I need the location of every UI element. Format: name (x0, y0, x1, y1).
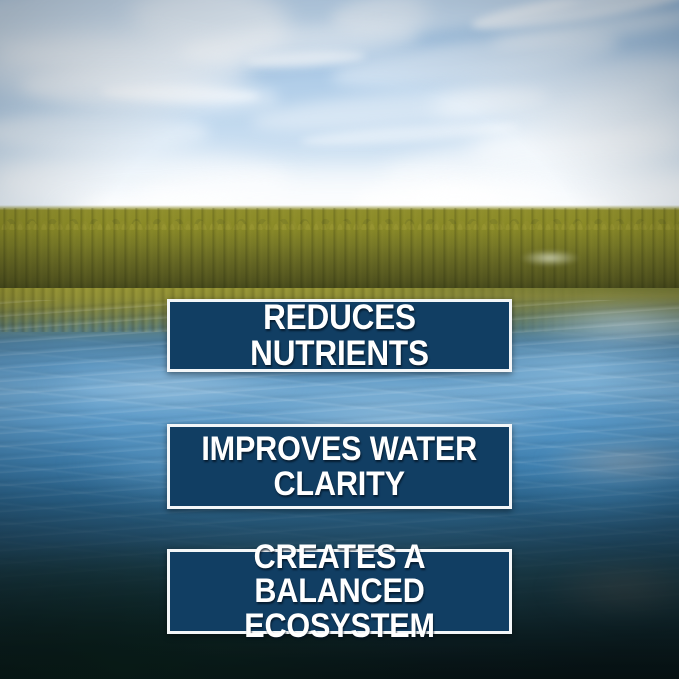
callout-improves-water-clarity: IMPROVES WATER CLARITY (167, 424, 512, 509)
callout-label: REDUCES NUTRIENTS (187, 300, 492, 371)
lake-benefits-graphic: REDUCES NUTRIENTS IMPROVES WATER CLARITY… (0, 0, 679, 679)
callout-creates-balanced-ecosystem: CREATES A BALANCED ECOSYSTEM (167, 549, 512, 634)
callout-label: CREATES A BALANCED ECOSYSTEM (187, 540, 492, 644)
callout-reduces-nutrients: REDUCES NUTRIENTS (167, 299, 512, 372)
shoreline-highlight (520, 250, 580, 266)
callout-label: IMPROVES WATER CLARITY (194, 432, 484, 501)
